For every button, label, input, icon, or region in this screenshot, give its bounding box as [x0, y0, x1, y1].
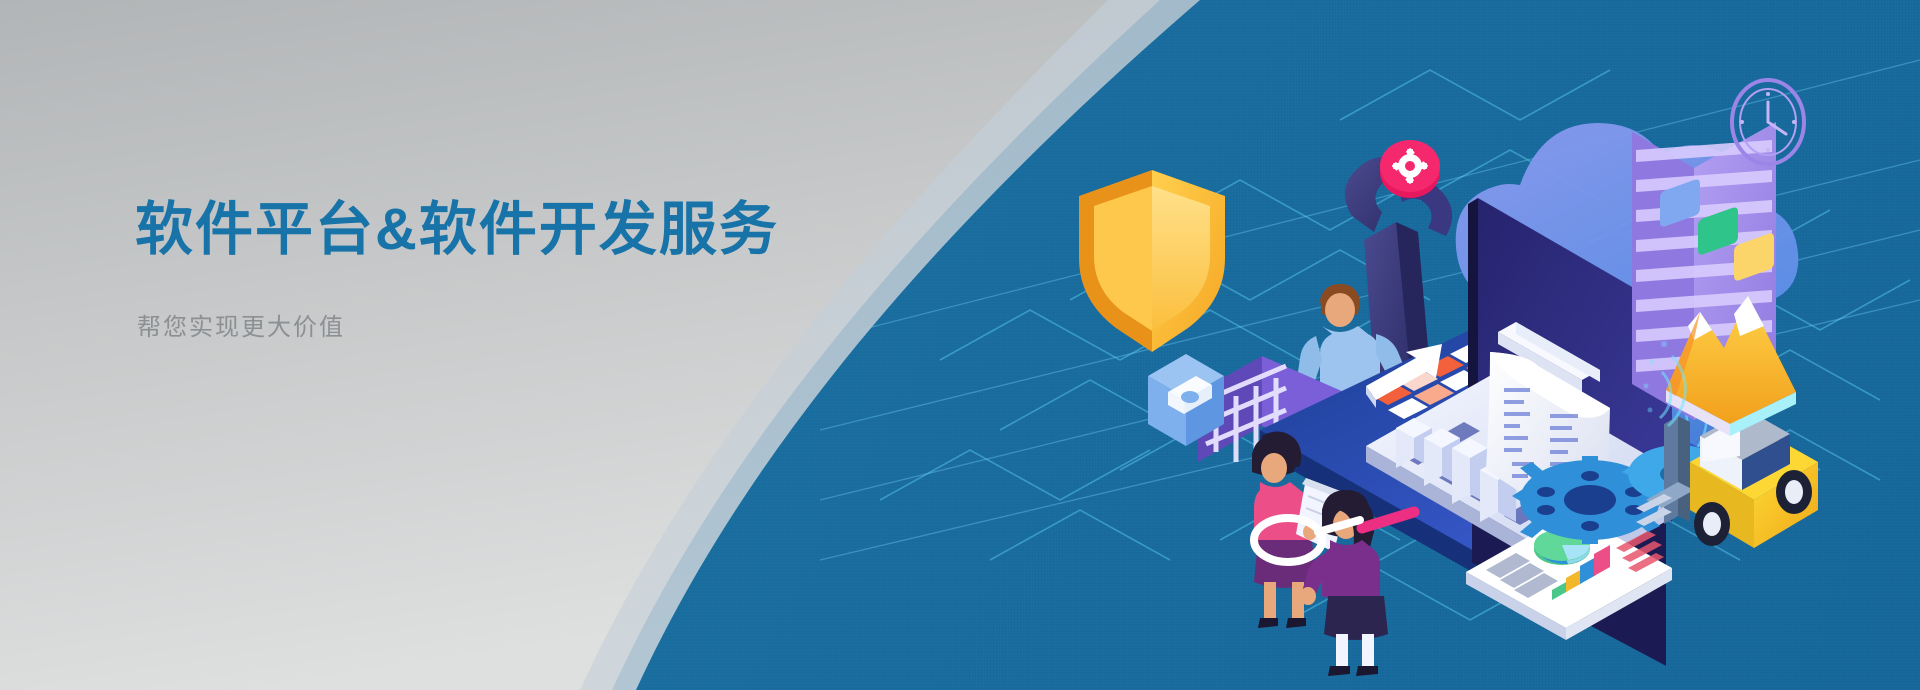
hero-banner: 软件平台&软件开发服务 帮您实现更大价值	[0, 0, 1920, 690]
page-title: 软件平台&软件开发服务	[135, 196, 895, 263]
curved-divider	[0, 0, 1920, 690]
banner-copy: 软件平台&软件开发服务 帮您实现更大价值	[135, 196, 895, 342]
page-subtitle: 帮您实现更大价值	[137, 307, 895, 342]
